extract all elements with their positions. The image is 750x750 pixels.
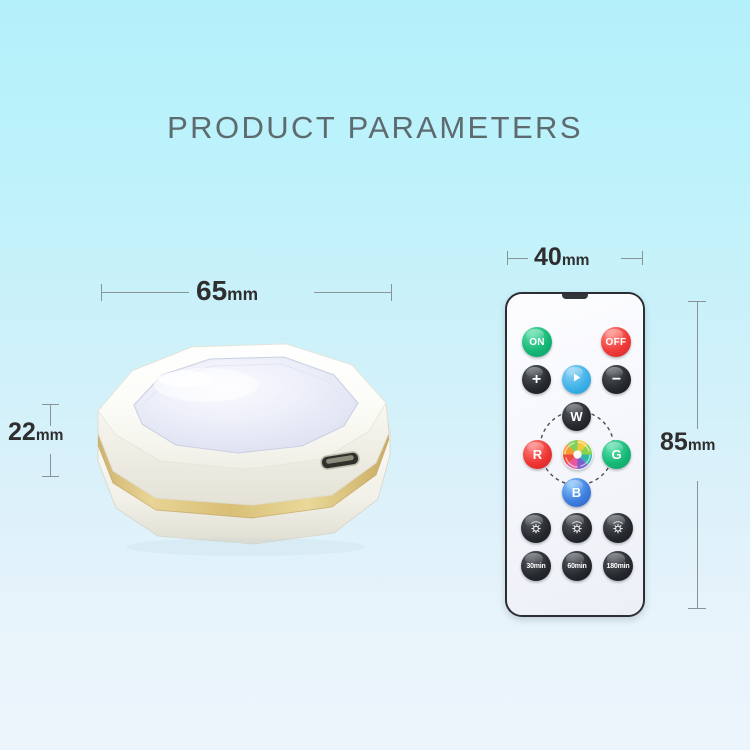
brightness-icon	[528, 520, 544, 536]
play-pause-button[interactable]	[562, 365, 591, 394]
plus-icon: +	[532, 372, 541, 388]
remote-width-label: 40mm	[534, 243, 589, 272]
lamp-height-label: 22mm	[8, 418, 63, 447]
green-label: G	[611, 447, 621, 462]
product-parameters-image: PRODUCT PARAMETERS 65mm 22mm	[0, 0, 750, 750]
brightness-down-button[interactable]: −	[602, 365, 631, 394]
dim-line-right	[314, 292, 392, 293]
power-on-button[interactable]: ON	[522, 327, 552, 357]
dim-cap-right	[642, 251, 643, 265]
brightness-mode-2-button[interactable]	[562, 513, 592, 543]
remote-product-image: ON OFF + − W	[505, 292, 645, 617]
white-label: W	[570, 409, 582, 424]
lamp-product-image	[86, 333, 404, 571]
power-off-button[interactable]: OFF	[601, 327, 631, 357]
power-off-label: OFF	[606, 337, 627, 348]
timer-60min-label: 60min	[567, 563, 586, 570]
remote-body: ON OFF + − W	[505, 292, 645, 617]
timer-30min-button[interactable]: 30min	[521, 551, 551, 581]
brightness-mode-3-button[interactable]	[603, 513, 633, 543]
page-title: PRODUCT PARAMETERS	[0, 110, 750, 146]
timer-180min-label: 180min	[607, 563, 630, 570]
dim-line-right	[621, 258, 643, 259]
dim-cap-right	[391, 284, 392, 301]
minus-icon: −	[612, 372, 621, 388]
timer-180min-button[interactable]: 180min	[603, 551, 633, 581]
lamp-width-label: 65mm	[196, 275, 258, 307]
blue-color-button[interactable]: B	[562, 478, 591, 507]
red-color-button[interactable]: R	[523, 440, 552, 469]
dim-line-bottom	[697, 481, 698, 609]
timer-30min-label: 30min	[526, 563, 545, 570]
dim-cap-bottom	[42, 476, 59, 477]
dim-line-left	[507, 258, 528, 259]
ir-emitter-notch	[562, 293, 588, 299]
dim-line-top	[697, 301, 698, 429]
power-on-label: ON	[529, 337, 545, 348]
blue-label: B	[572, 485, 581, 500]
white-color-button[interactable]: W	[562, 402, 591, 431]
dim-cap-bottom	[688, 608, 706, 609]
color-wheel-button[interactable]	[562, 439, 593, 470]
dim-line-bottom	[50, 454, 51, 476]
play-icon	[570, 371, 583, 389]
timer-60min-button[interactable]: 60min	[562, 551, 592, 581]
brightness-mode-1-button[interactable]	[521, 513, 551, 543]
dim-line-left	[101, 292, 189, 293]
remote-height-label: 85mm	[660, 428, 715, 457]
brightness-icon	[610, 520, 626, 536]
brightness-icon	[569, 520, 585, 536]
red-label: R	[533, 447, 542, 462]
brightness-up-button[interactable]: +	[522, 365, 551, 394]
green-color-button[interactable]: G	[602, 440, 631, 469]
